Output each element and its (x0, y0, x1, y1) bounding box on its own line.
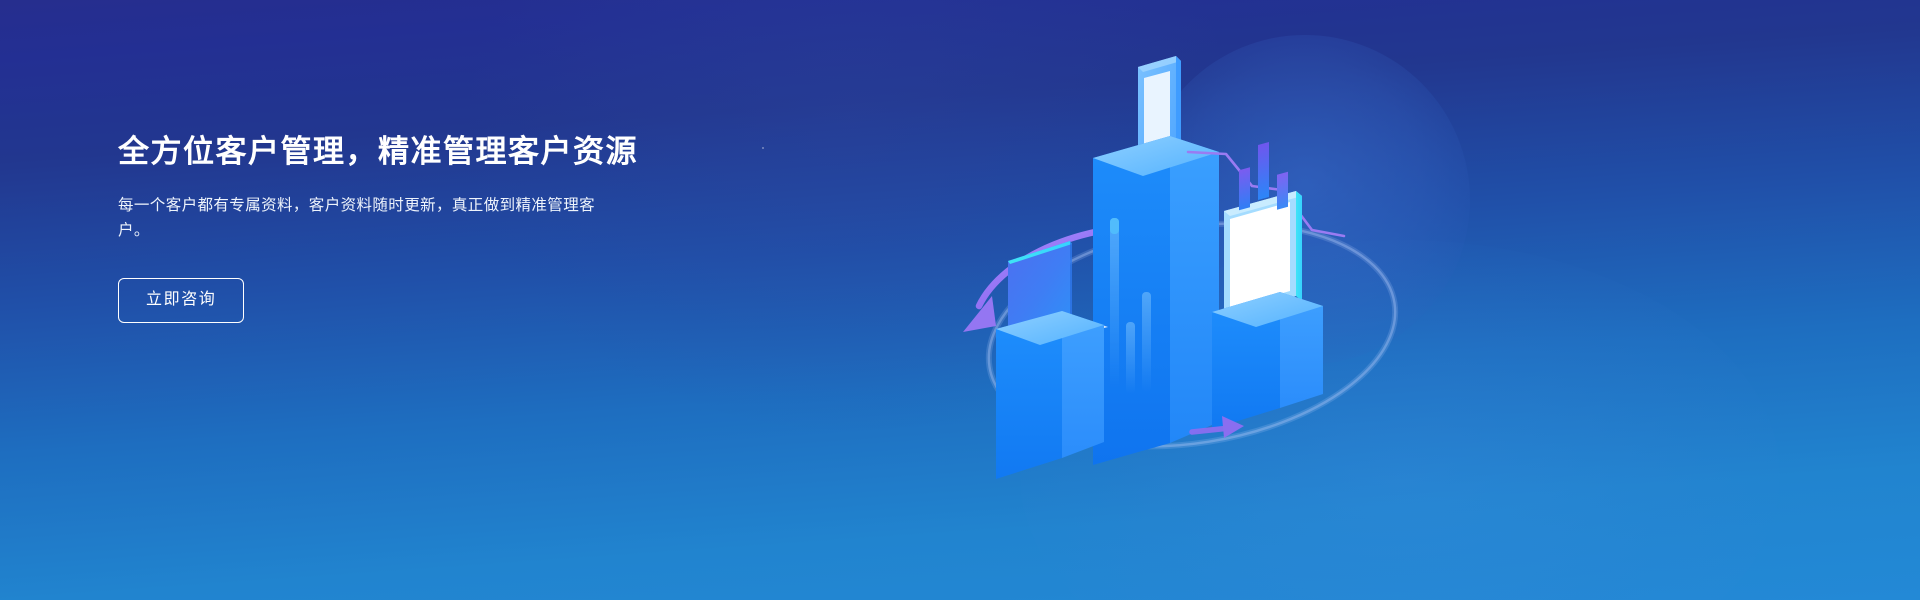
hero-illustration (930, 30, 1450, 590)
consult-now-button[interactable]: 立即咨询 (118, 278, 244, 323)
hero-banner: 全方位客户管理，精准管理客户资源 每一个客户都有专属资料，客户资料随时更新，真正… (0, 0, 1920, 600)
pedestal-right (1212, 142, 1323, 429)
pedestal-left (996, 241, 1108, 479)
hero-content: 全方位客户管理，精准管理客户资源 每一个客户都有专属资料，客户资料随时更新，真正… (118, 133, 738, 323)
hero-description: 每一个客户都有专属资料，客户资料随时更新，真正做到精准管理客户。 (118, 193, 600, 243)
page-title: 全方位客户管理，精准管理客户资源 (118, 133, 738, 172)
monitor-bar-chart (1224, 142, 1302, 316)
pedestal-center-tall (1093, 56, 1219, 465)
decorative-speck (762, 147, 764, 149)
